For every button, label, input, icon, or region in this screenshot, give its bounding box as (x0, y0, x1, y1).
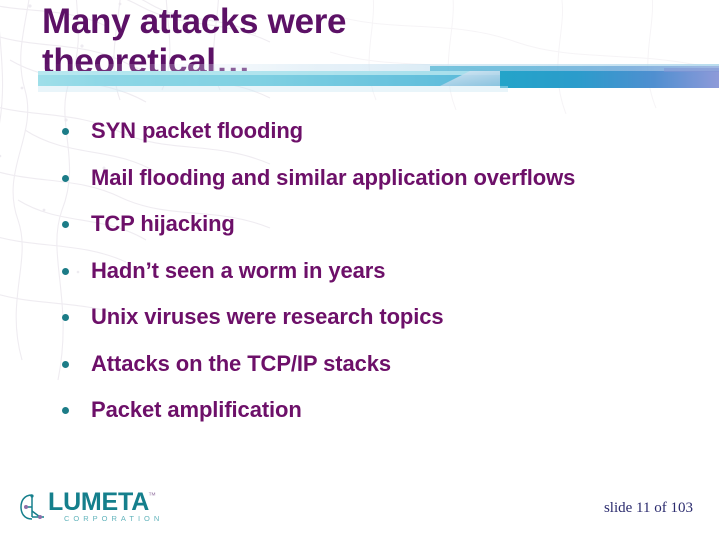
list-item: Unix viruses were research topics (62, 304, 662, 330)
list-item: TCP hijacking (62, 211, 662, 237)
bullet-text: Hadn’t seen a worm in years (91, 258, 662, 284)
bullet-text: Packet amplification (91, 397, 662, 423)
lumeta-subtitle: CORPORATION (64, 514, 163, 523)
slide-title-line1: Many attacks were (42, 2, 562, 42)
bullet-dot-icon (62, 407, 69, 414)
bullet-text: Mail flooding and similar application ov… (91, 165, 662, 191)
lumeta-network-mark-icon (20, 491, 50, 523)
bullet-text: TCP hijacking (91, 211, 662, 237)
bullet-dot-icon (62, 128, 69, 135)
slide-title-line2: theoretical… (42, 42, 562, 82)
presentation-slide: Many attacks were theoretical… (0, 0, 719, 539)
lumeta-logo: LUMETA ™ CORPORATION (20, 487, 180, 532)
list-item: SYN packet flooding (62, 118, 662, 144)
bullet-dot-icon (62, 268, 69, 275)
bullet-list: SYN packet flooding Mail flooding and si… (62, 118, 662, 444)
bullet-dot-icon (62, 314, 69, 321)
list-item: Attacks on the TCP/IP stacks (62, 351, 662, 377)
list-item: Mail flooding and similar application ov… (62, 165, 662, 191)
slide-title: Many attacks were theoretical… (42, 2, 562, 81)
list-item: Packet amplification (62, 397, 662, 423)
bullet-text: SYN packet flooding (91, 118, 662, 144)
bullet-text: Unix viruses were research topics (91, 304, 662, 330)
bullet-dot-icon (62, 175, 69, 182)
bullet-text: Attacks on the TCP/IP stacks (91, 351, 662, 377)
slide-number: slide 11 of 103 (604, 500, 693, 517)
list-item: Hadn’t seen a worm in years (62, 258, 662, 284)
bullet-dot-icon (62, 361, 69, 368)
trademark-symbol: ™ (148, 491, 156, 500)
lumeta-wordmark: LUMETA (48, 488, 149, 517)
bullet-dot-icon (62, 221, 69, 228)
